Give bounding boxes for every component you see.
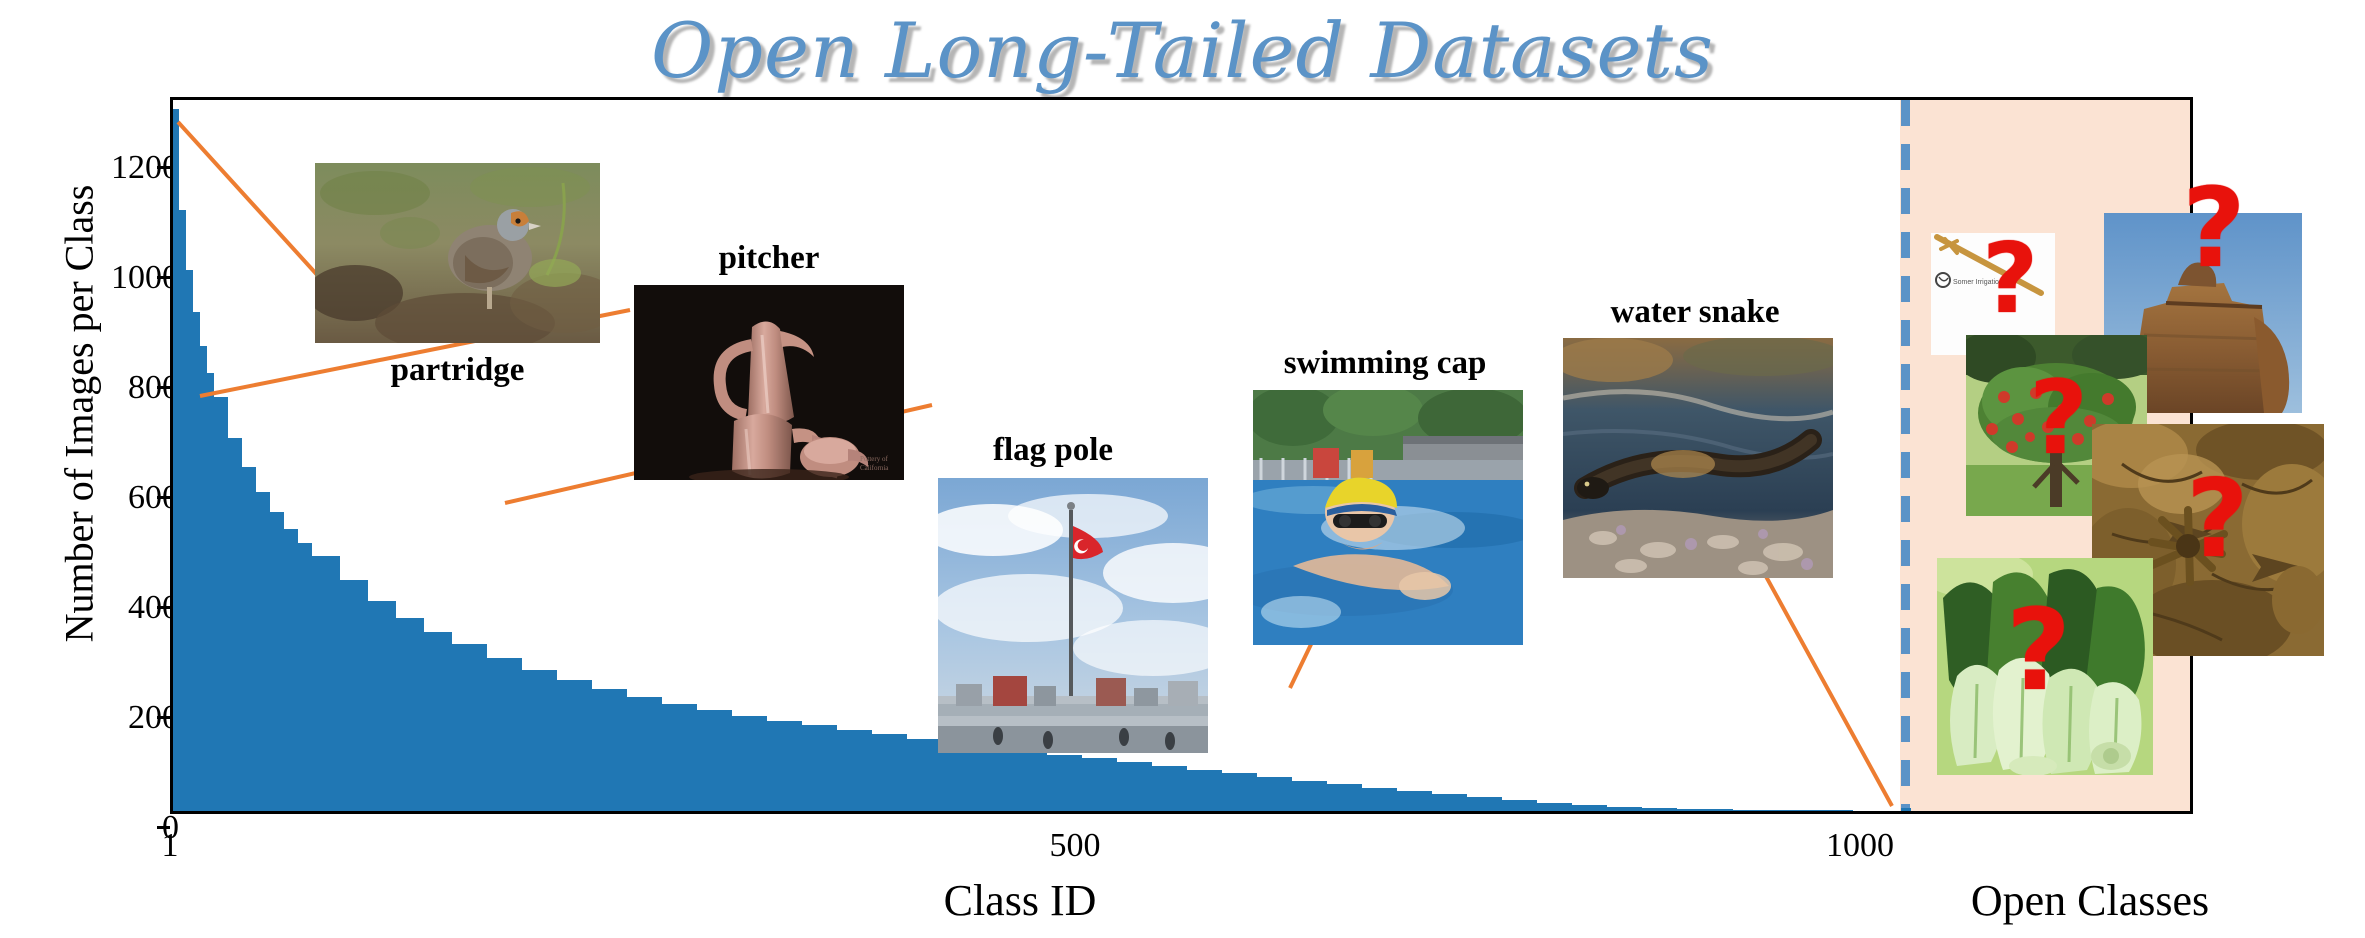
open-region-baseline — [1901, 808, 1911, 811]
y-tick-label-200: 200 — [19, 701, 179, 735]
x-tick-label-500: 500 — [1025, 829, 1125, 863]
y-tick-mark-600 — [157, 496, 170, 499]
callout-label-flag-pole: flag pole — [938, 432, 1168, 469]
open-class-question-mark-1: ? — [1982, 230, 2038, 327]
x-tick-label-1: 1 — [140, 829, 200, 863]
y-tick-mark-400 — [157, 606, 170, 609]
y-tick-mark-1200 — [157, 166, 170, 169]
pitcher-photo: Pottery of California — [634, 285, 904, 480]
y-tick-label-1200: 1200 — [19, 151, 179, 185]
callout-image-water-snake[interactable] — [1563, 338, 1833, 578]
open-classes-label: Open Classes — [1880, 875, 2300, 926]
open-class-question-mark-4: ? — [2186, 466, 2249, 574]
y-tick-mark-800 — [157, 386, 170, 389]
flag-pole-photo — [938, 478, 1208, 753]
y-tick-label-600: 600 — [19, 481, 179, 515]
partridge-photo — [315, 163, 600, 343]
open-class-question-mark-3: ? — [2029, 368, 2088, 470]
y-axis-label: Number of Images per Class — [56, 104, 103, 724]
x-axis-label: Class ID — [650, 875, 1390, 926]
callout-label-water-snake: water snake — [1580, 294, 1810, 331]
water-snake-photo — [1563, 338, 1833, 578]
open-class-question-mark-2: ? — [2182, 173, 2246, 283]
y-tick-label-1000: 1000 — [19, 261, 179, 295]
x-tick-label-1000: 1000 — [1800, 829, 1920, 863]
callout-label-swimming-cap: swimming cap — [1255, 345, 1515, 382]
swimming-cap-photo — [1253, 390, 1523, 645]
y-tick-label-800: 800 — [19, 371, 179, 405]
svg-text:Pottery of: Pottery of — [860, 455, 888, 463]
callout-label-pitcher: pitcher — [634, 240, 904, 277]
y-tick-mark-200 — [157, 716, 170, 719]
callout-image-swimming-cap[interactable] — [1253, 390, 1523, 645]
page-title: Open Long-Tailed Datasets — [0, 6, 2365, 95]
callout-image-flag-pole[interactable] — [938, 478, 1208, 753]
callout-label-partridge: partridge — [315, 352, 600, 389]
open-class-question-mark-5: ? — [2006, 595, 2071, 707]
callout-image-partridge[interactable] — [315, 163, 600, 343]
svg-text:California: California — [860, 464, 889, 472]
callout-image-pitcher[interactable]: Pottery of California — [634, 285, 904, 480]
y-tick-mark-1000 — [157, 276, 170, 279]
y-tick-label-400: 400 — [19, 591, 179, 625]
